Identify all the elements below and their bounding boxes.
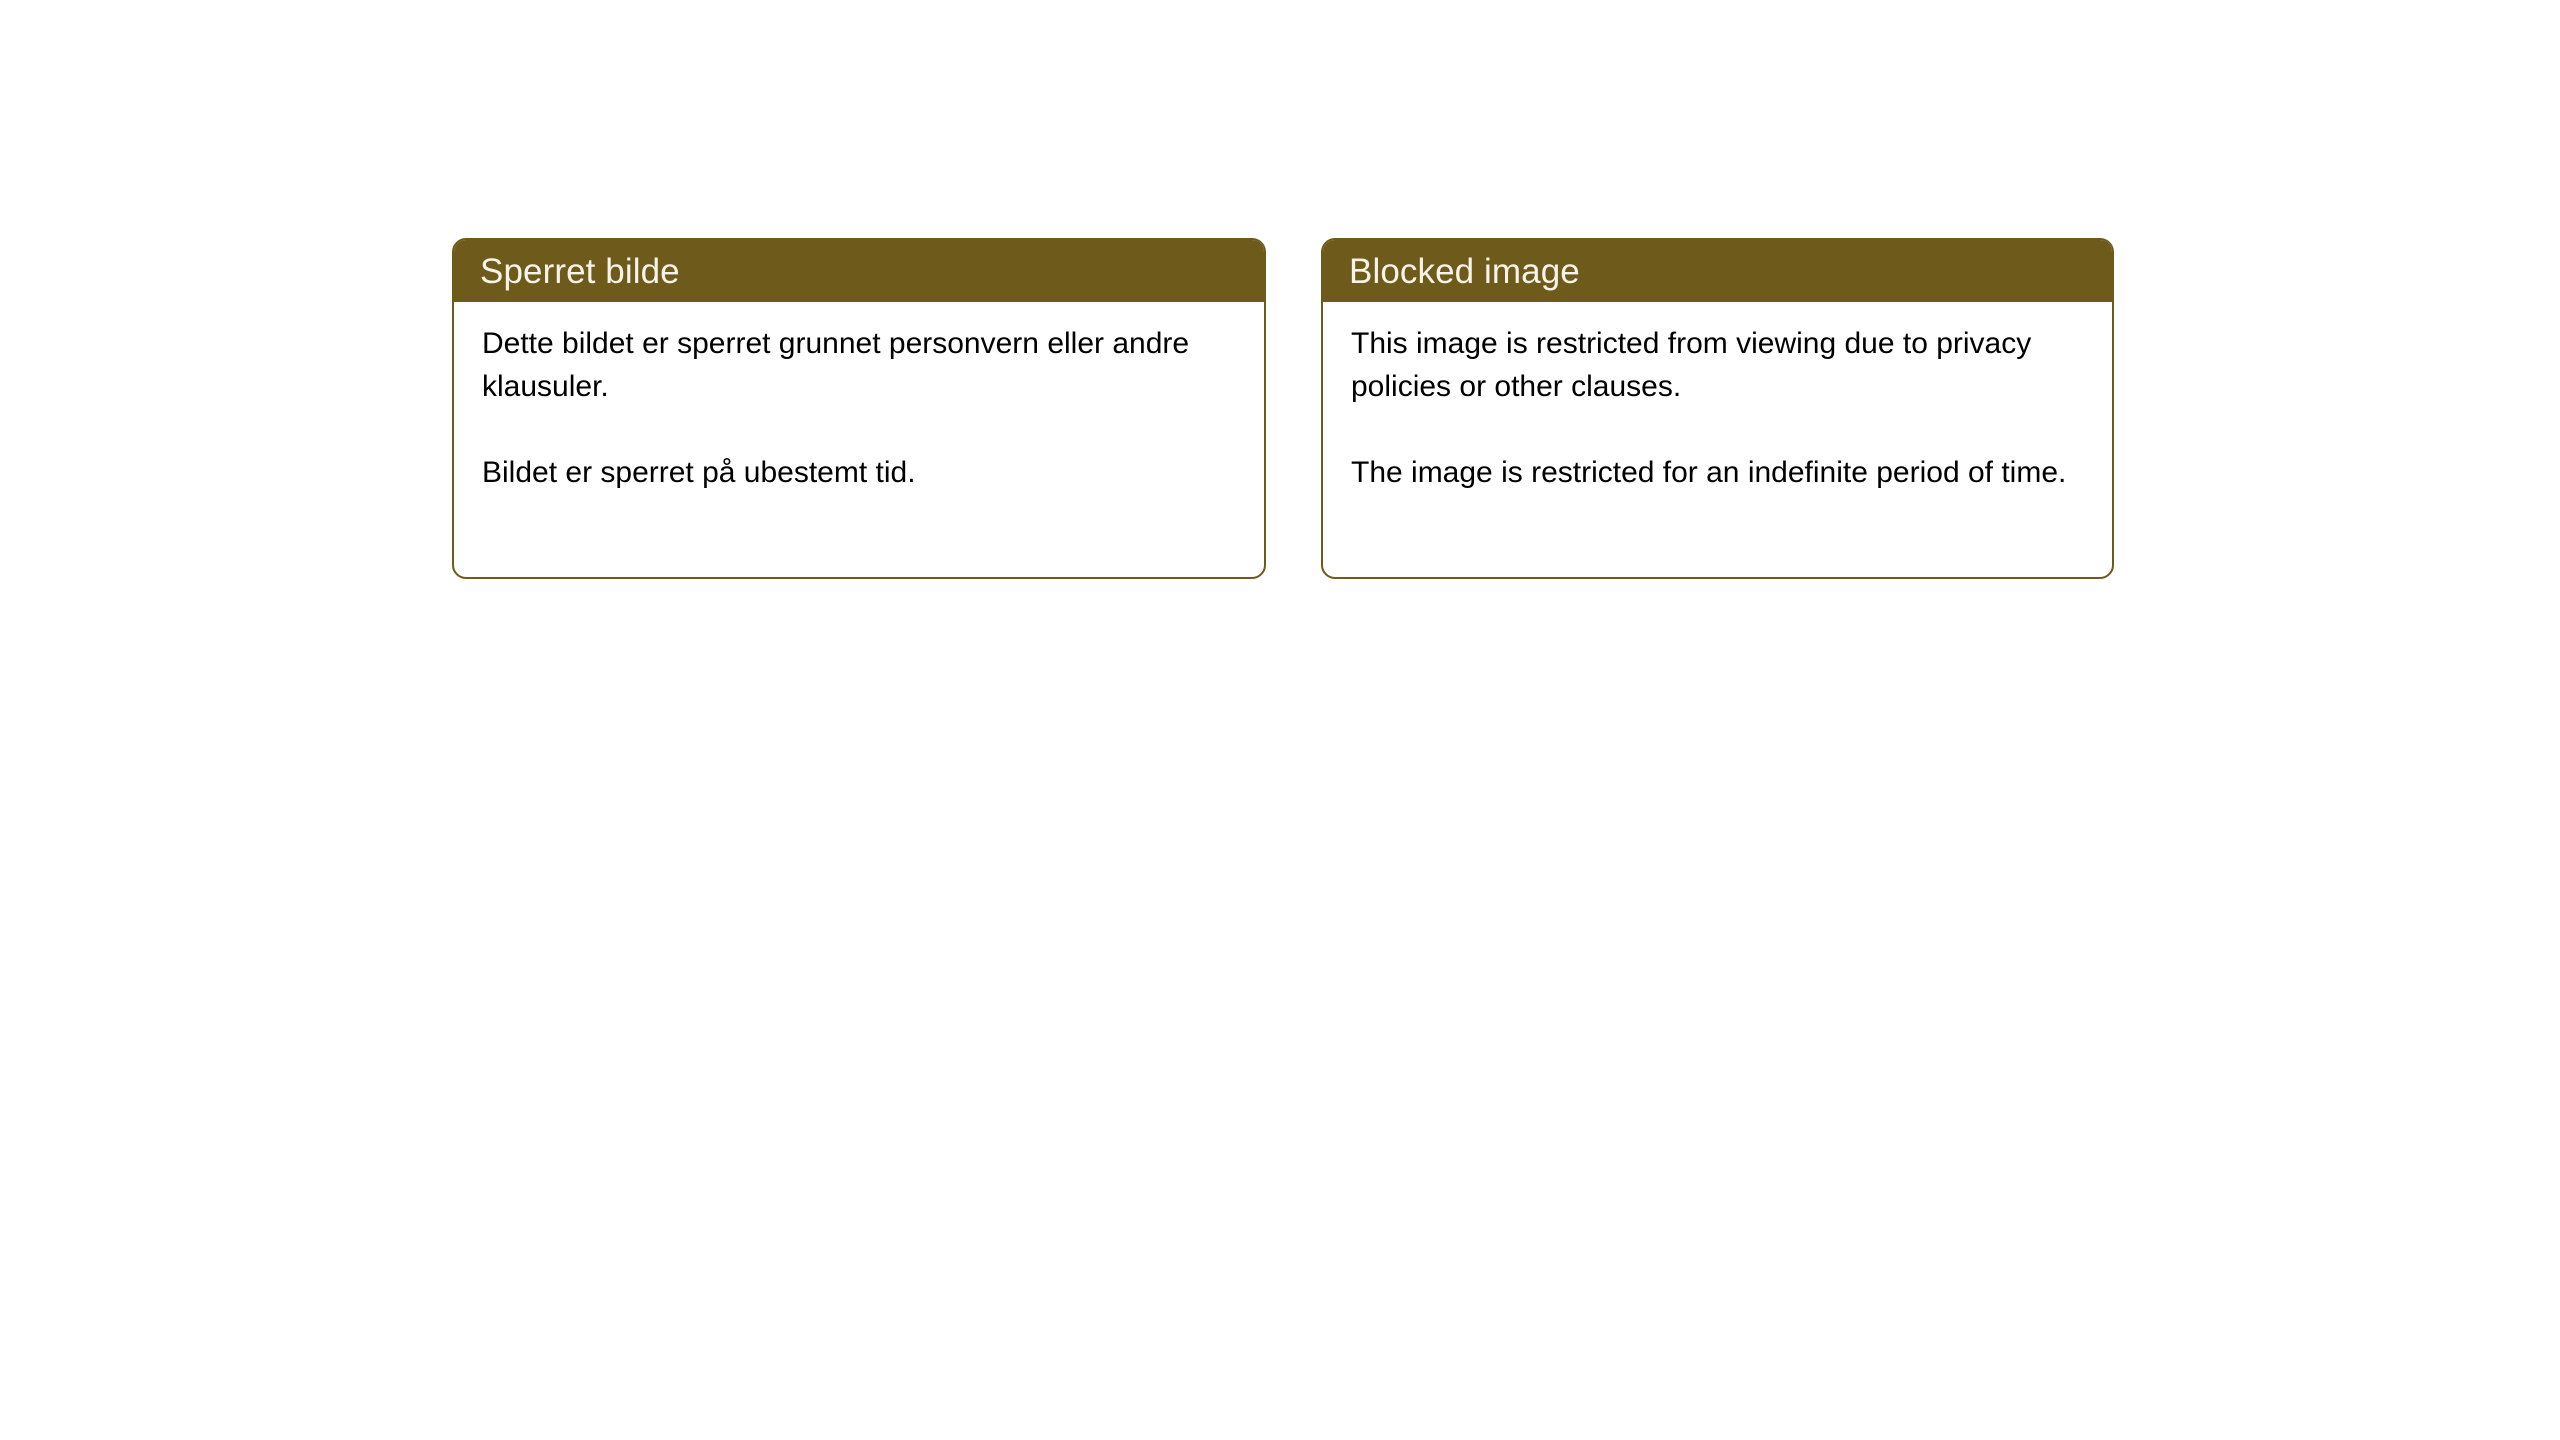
card-title-english: Blocked image xyxy=(1349,254,1580,289)
card-paragraph-primary-english: This image is restricted from viewing du… xyxy=(1351,322,2086,408)
card-body-english: This image is restricted from viewing du… xyxy=(1323,302,2112,577)
blocked-image-notice-group: Sperret bilde Dette bildet er sperret gr… xyxy=(452,238,2114,579)
blocked-image-card-english: Blocked image This image is restricted f… xyxy=(1321,238,2114,579)
card-title-norwegian: Sperret bilde xyxy=(480,254,680,289)
card-paragraph-secondary-english: The image is restricted for an indefinit… xyxy=(1351,451,2086,494)
card-header-english: Blocked image xyxy=(1323,240,2112,302)
blocked-image-card-norwegian: Sperret bilde Dette bildet er sperret gr… xyxy=(452,238,1266,579)
card-header-norwegian: Sperret bilde xyxy=(454,240,1264,302)
card-paragraph-primary-norwegian: Dette bildet er sperret grunnet personve… xyxy=(482,322,1238,408)
card-body-norwegian: Dette bildet er sperret grunnet personve… xyxy=(454,302,1264,577)
card-paragraph-secondary-norwegian: Bildet er sperret på ubestemt tid. xyxy=(482,451,1238,494)
